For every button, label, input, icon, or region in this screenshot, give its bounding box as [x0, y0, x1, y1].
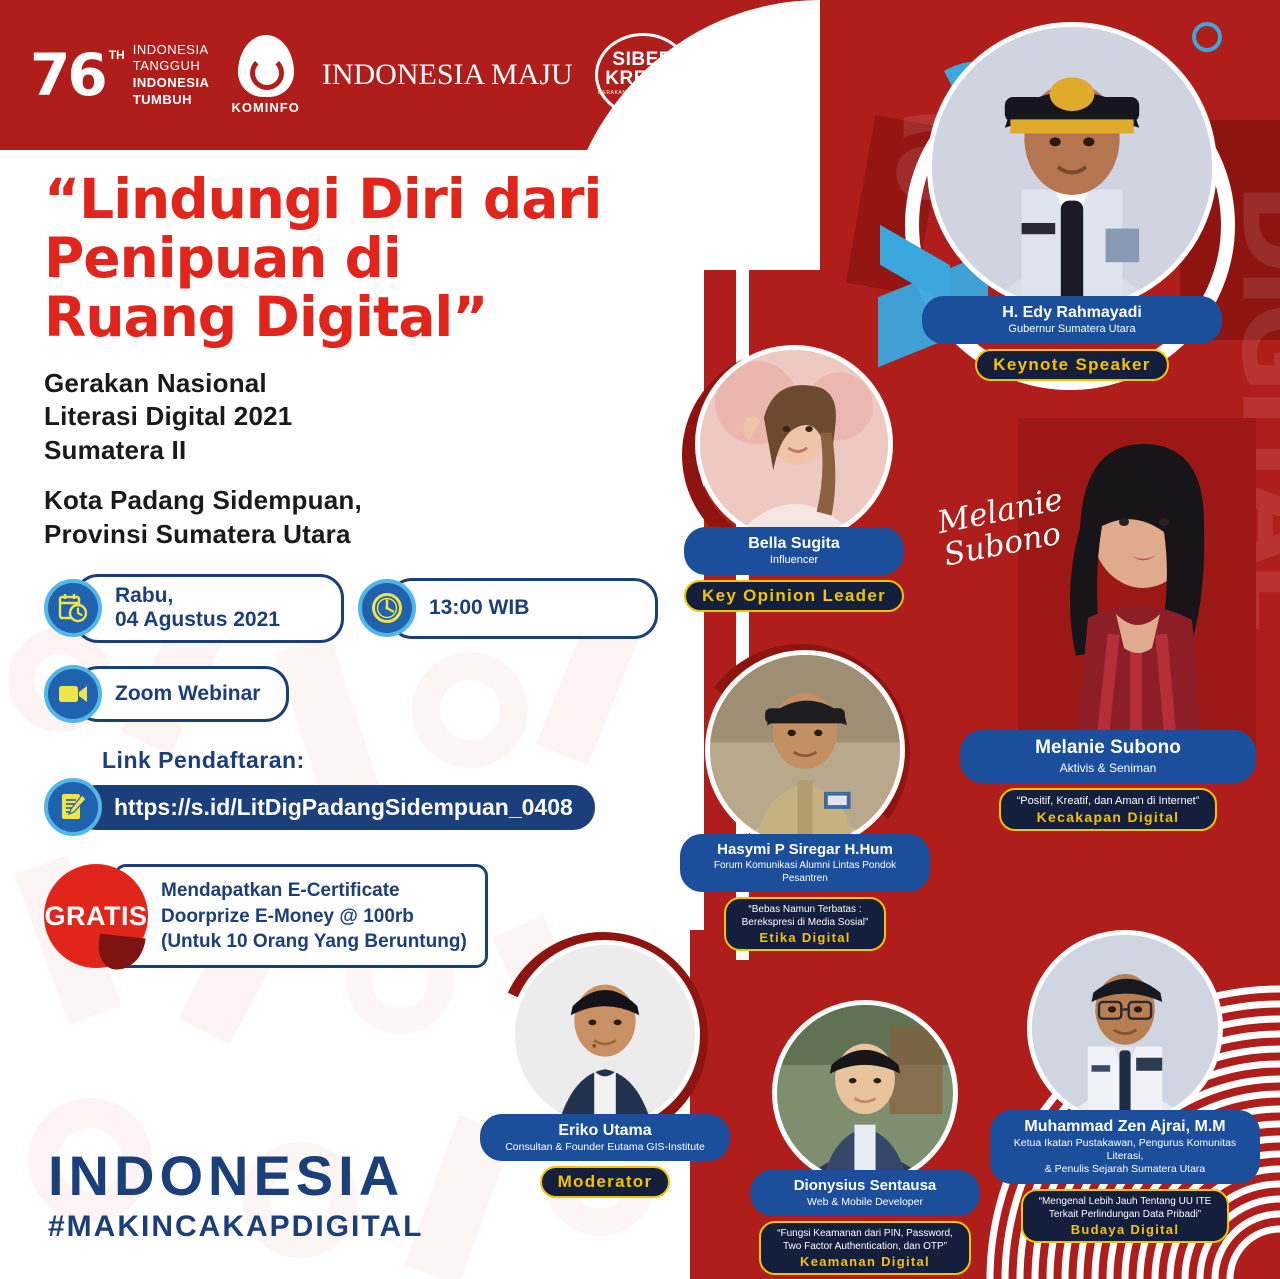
- siber-line-3: GERAKAN NASIONAL LITERASI DIGITAL: [598, 91, 688, 101]
- speaker-name-plate: Eriko Utama Consultan & Founder Eutama G…: [480, 1114, 730, 1161]
- speaker-pillar: Moderator: [558, 1172, 653, 1192]
- speaker-name-plate: H. Edy Rahmayadi Gubernur Sumatera Utara: [922, 296, 1222, 344]
- anniversary-line-4: TUMBUH: [133, 92, 192, 107]
- speaker-quote: “Bebas Namun Terbatas : Berekspresi di M…: [742, 903, 869, 929]
- speaker-name: H. Edy Rahmayadi: [938, 303, 1206, 322]
- speaker-role: Ketua Ikatan Pustakawan, Pengurus Komuni…: [1006, 1137, 1244, 1176]
- speaker-name: Dionysius Sentausa: [766, 1177, 964, 1195]
- avatar: [695, 345, 893, 543]
- speaker-name: Muhammad Zen Ajrai, M.M: [1006, 1117, 1244, 1136]
- speaker-card-edy: H. Edy Rahmayadi Gubernur Sumatera Utara…: [922, 22, 1222, 381]
- speaker-role: Web & Mobile Developer: [766, 1196, 964, 1209]
- speaker-name-plate: Hasymi P Siregar H.Hum Forum Komunikasi …: [680, 834, 930, 892]
- speaker-card-bella: Bella Sugita Influencer Key Opinion Lead…: [684, 345, 904, 612]
- avatar: [927, 22, 1217, 312]
- speaker-pillar: Budaya Digital: [1039, 1222, 1212, 1237]
- time-value: 13:00 WIB: [388, 578, 658, 639]
- speaker-role: Forum Komunikasi Alumni Lintas Pondok Pe…: [696, 860, 914, 885]
- siber-line-1: SIBER: [612, 50, 673, 69]
- promo-text: Mendapatkan E-Certificate Doorprize E-Mo…: [114, 864, 488, 967]
- platform-row: Zoom Webinar: [44, 665, 684, 723]
- speaker-name-plate: Muhammad Zen Ajrai, M.M Ketua Ikatan Pus…: [990, 1110, 1260, 1184]
- anniversary-ordinal: TH: [109, 48, 125, 62]
- speaker-topic-badge: “Bebas Namun Terbatas : Berekspresi di M…: [724, 897, 887, 951]
- speaker-role: Influencer: [700, 554, 888, 568]
- left-content-column: “Lindungi Diri dari Penipuan di Ruang Di…: [44, 170, 684, 968]
- headline-line-2: Penipuan di: [44, 229, 684, 288]
- speaker-card-dionysius: Dionysius Sentausa Web & Mobile Develope…: [750, 1000, 980, 1275]
- speaker-pillar-badge: Keynote Speaker: [975, 349, 1168, 381]
- speaker-pillar: Etika Digital: [742, 930, 869, 945]
- platform-pill: Zoom Webinar: [44, 665, 289, 723]
- logo-indonesia-maju: INDONESIA MAJU: [322, 58, 573, 92]
- speaker-topic-badge: “Fungsi Keamanan dari PIN, Password, Two…: [759, 1221, 971, 1275]
- logo-kominfo: KOMINFO: [231, 35, 299, 115]
- speaker-topic-badge: “Positif, Kreatif, dan Aman di Internet”…: [999, 788, 1218, 831]
- speaker-topic-badge: “Mengenal Lebih Jauh Tentang UU ITE Terk…: [1021, 1189, 1230, 1243]
- speaker-name: Bella Sugita: [700, 534, 888, 553]
- clock-icon: [358, 579, 416, 637]
- gratis-badge: GRATIS: [44, 864, 148, 968]
- datetime-row: Rabu, 04 Agustus 2021 13:00 WIB: [44, 574, 684, 644]
- speaker-role: Gubernur Sumatera Utara: [938, 323, 1206, 337]
- registration-link-label: Link Pendaftaran:: [102, 747, 684, 774]
- kominfo-label: KOMINFO: [231, 100, 299, 115]
- form-pencil-icon: [44, 778, 102, 836]
- speaker-name: Melanie Subono: [976, 737, 1240, 760]
- logo-76th-indonesia: 76 TH INDONESIA TANGGUH INDONESIA TUMBUH: [30, 42, 209, 109]
- registration-link-row[interactable]: https://s.id/LitDigPadangSidempuan_0408: [44, 778, 684, 836]
- registration-url[interactable]: https://s.id/LitDigPadangSidempuan_0408: [74, 785, 595, 830]
- anniversary-line-3: INDONESIA: [133, 75, 210, 90]
- speaker-pillar-badge: Key Opinion Leader: [684, 580, 904, 612]
- event-location: Kota Padang Sidempuan, Provinsi Sumatera…: [44, 484, 684, 552]
- speaker-role: Aktivis & Seniman: [976, 761, 1240, 776]
- date-value: Rabu, 04 Agustus 2021: [74, 574, 344, 644]
- footer-hashtag: #MAKINCAKAPDIGITAL: [48, 1210, 423, 1244]
- avatar: [510, 940, 700, 1130]
- speaker-card-zen: Muhammad Zen Ajrai, M.M Ketua Ikatan Pus…: [990, 930, 1260, 1243]
- anniversary-number: 76: [30, 46, 105, 104]
- siber-line-2: KREASI: [605, 69, 680, 88]
- anniversary-tagline: INDONESIA TANGGUH INDONESIA TUMBUH: [133, 42, 210, 109]
- speaker-name-plate: Bella Sugita Influencer: [684, 527, 904, 575]
- speaker-quote: “Positif, Kreatif, dan Aman di Internet”: [1017, 794, 1200, 808]
- avatar: [705, 650, 905, 850]
- footer-indonesia-label: INDONESIA: [48, 1148, 423, 1204]
- speaker-pillar: Keamanan Digital: [777, 1254, 953, 1269]
- speaker-card-eriko: Eriko Utama Consultan & Founder Eutama G…: [480, 940, 730, 1198]
- headline-line-1: “Lindungi Diri dari: [44, 170, 684, 229]
- page-title: “Lindungi Diri dari Penipuan di Ruang Di…: [44, 170, 684, 347]
- event-subtitle: Gerakan Nasional Literasi Digital 2021 S…: [44, 367, 684, 468]
- speaker-card-melanie: Melanie Subono Aktivis & Seniman “Positi…: [960, 430, 1256, 831]
- avatar: [1027, 930, 1223, 1126]
- speaker-pillar: Key Opinion Leader: [702, 586, 886, 606]
- speaker-pillar-badge: Moderator: [540, 1166, 671, 1198]
- speaker-quote: “Fungsi Keamanan dari PIN, Password, Two…: [777, 1227, 953, 1253]
- anniversary-line-2: TANGGUH: [133, 58, 210, 75]
- date-pill: Rabu, 04 Agustus 2021: [44, 574, 344, 644]
- speaker-pillar: Keynote Speaker: [993, 355, 1150, 375]
- speaker-quote: “Mengenal Lebih Jauh Tentang UU ITE Terk…: [1039, 1195, 1212, 1221]
- speaker-name: Eriko Utama: [496, 1121, 714, 1140]
- speaker-pillar: Kecakapan Digital: [1017, 809, 1200, 825]
- calendar-clock-icon: [44, 579, 102, 637]
- speaker-card-hasymi: Hasymi P Siregar H.Hum Forum Komunikasi …: [680, 650, 930, 951]
- anniversary-line-1: INDONESIA: [133, 42, 210, 59]
- headline-line-3: Ruang Digital”: [44, 288, 684, 347]
- logo-siber-kreasi: SIBER KREASI GERAKAN NASIONAL LITERASI D…: [595, 33, 691, 117]
- kominfo-mark-icon: [238, 35, 294, 97]
- speaker-name: Hasymi P Siregar H.Hum: [696, 841, 914, 859]
- video-camera-icon: [44, 665, 102, 723]
- avatar: [772, 1000, 958, 1186]
- poster-canvas: an DIGITAL: [0, 0, 1280, 1279]
- platform-value: Zoom Webinar: [74, 666, 289, 723]
- speaker-name-plate: Melanie Subono Aktivis & Seniman: [960, 730, 1256, 783]
- header-logo-bar: 76 TH INDONESIA TANGGUH INDONESIA TUMBUH…: [0, 0, 760, 150]
- time-pill: 13:00 WIB: [358, 578, 658, 639]
- footer-brand: INDONESIA #MAKINCAKAPDIGITAL: [48, 1148, 423, 1244]
- speaker-role: Consultan & Founder Eutama GIS-Institute: [496, 1141, 714, 1154]
- speaker-name-plate: Dionysius Sentausa Web & Mobile Develope…: [750, 1170, 980, 1216]
